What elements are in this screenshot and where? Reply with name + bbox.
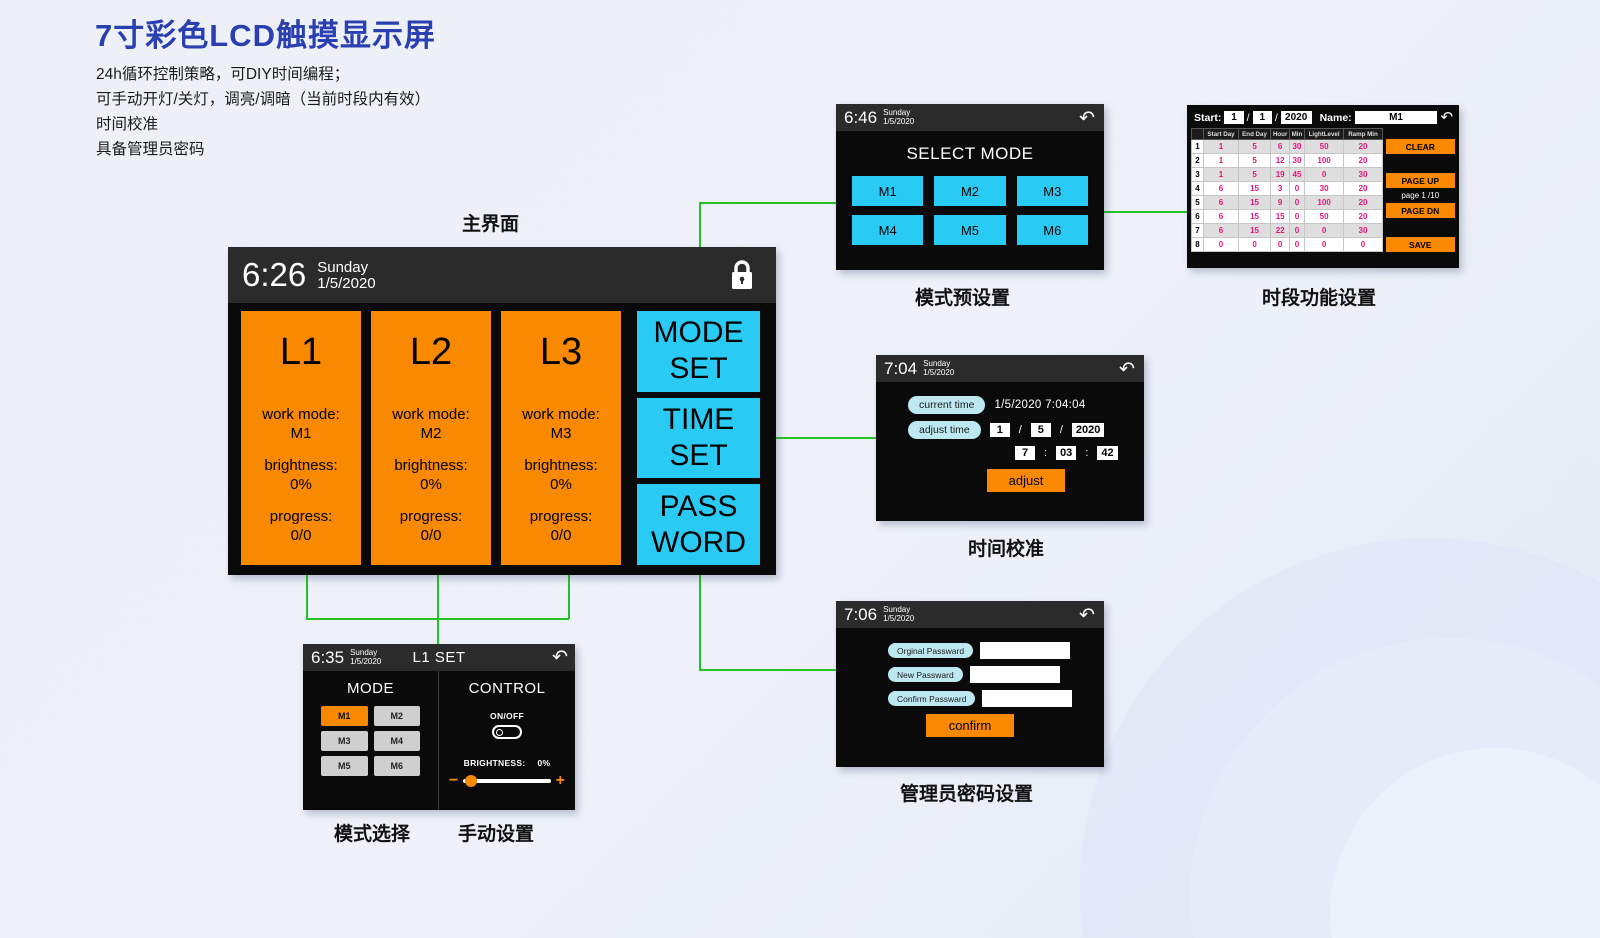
time-form: current time 1/5/2020 7:04:04 adjust tim… (876, 382, 1144, 492)
cell-hour[interactable]: 22 (1271, 224, 1290, 238)
mode-button-m2[interactable]: M2 (934, 176, 1005, 206)
connector-l3-down (568, 568, 570, 619)
page-indicator: page 1 /10 (1386, 190, 1455, 201)
date-separator-1: / (1247, 112, 1250, 124)
cell-lightlevel[interactable]: 50 (1304, 210, 1344, 224)
select-mode-title: SELECT MODE (836, 144, 1104, 164)
cell-hour[interactable]: 15 (1271, 210, 1290, 224)
caption-main-interface: 主界面 (462, 209, 519, 236)
adjust-time-label: adjust time (908, 421, 981, 439)
cell-rampmin[interactable]: 20 (1344, 196, 1382, 210)
cell-rampmin[interactable]: 20 (1344, 210, 1382, 224)
cell-lightlevel[interactable]: 0 (1304, 224, 1344, 238)
slider-handle[interactable] (465, 775, 477, 787)
start-label: Start: (1194, 112, 1221, 124)
col-end-day: End Day (1239, 129, 1271, 140)
cell-start-day[interactable]: 6 (1204, 224, 1239, 238)
mode-button-m5[interactable]: M5 (934, 215, 1005, 245)
cell-rampmin[interactable]: 20 (1344, 182, 1382, 196)
table-row: 7615220030 (1192, 224, 1383, 238)
channel-workmode-group: work mode: M2 (392, 405, 470, 443)
table-row: 56159010020 (1192, 196, 1383, 210)
time-sep-1: : (1044, 447, 1047, 459)
page-title: 7寸彩色LCD触摸显示屏 (95, 10, 436, 55)
time-date: 1/5/2020 (923, 369, 954, 378)
password-form: Orginal Passward New Passward Confirm Pa… (836, 628, 1104, 737)
caption-time-calibration: 时间校准 (968, 534, 1044, 561)
cell-lightlevel[interactable]: 100 (1304, 154, 1344, 168)
connector-l1-down (306, 568, 308, 619)
pass-clock-date: Sunday 1/5/2020 (883, 606, 914, 623)
name-input[interactable]: M1 (1355, 111, 1438, 124)
brightness-slider-row: − + (439, 768, 575, 789)
cell-rownum: 2 (1192, 154, 1204, 168)
cell-hour[interactable]: 0 (1271, 238, 1290, 252)
main-date: 1/5/2020 (317, 276, 375, 292)
cell-rownum: 1 (1192, 140, 1204, 154)
background-decoration-arc-1 (1080, 538, 1600, 938)
schedule-table-body: 1156305020 215123010020 3151945030 46153… (1192, 140, 1383, 252)
original-password-input[interactable] (980, 642, 1070, 659)
adjust-day-input[interactable]: 5 (1031, 423, 1051, 437)
lset-clock-date: Sunday 1/5/2020 (350, 649, 381, 666)
channel-brightness-group: brightness: 0% (262, 456, 340, 494)
cell-rownum: 8 (1192, 238, 1204, 252)
lset-mode-button-m1[interactable]: M1 (321, 706, 368, 726)
mode-set-button[interactable]: MODE SET (637, 311, 760, 392)
connector-l2-down (437, 568, 439, 646)
feature-item-2: 可手动开灯/关灯，调亮/调暗（当前时段内有效） (96, 87, 430, 112)
lset-mode-button-m3[interactable]: M3 (321, 731, 368, 751)
schedule-side-buttons: CLEAR PAGE UP page 1 /10 PAGE DN SAVE (1386, 128, 1455, 252)
channel-progress-group: progress: 0/0 (262, 507, 340, 545)
original-password-row: Orginal Passward (836, 642, 1104, 659)
time-clock-date: Sunday 1/5/2020 (923, 360, 954, 377)
mode-button-m6[interactable]: M6 (1017, 215, 1088, 245)
channel-card-l3[interactable]: L3 work mode: M3 brightness: 0% progress… (501, 311, 621, 565)
adjust-date-row: adjust time 1 / 5 / 2020 (908, 421, 1144, 439)
mode-titlebar: 6:46 Sunday 1/5/2020 ↶ (836, 104, 1104, 131)
main-clock-time: 6:26 (242, 256, 306, 294)
cell-min[interactable]: 0 (1290, 182, 1304, 196)
channel-name: L2 (410, 333, 452, 371)
connector-modeset-horizontal (699, 202, 836, 204)
workmode-value: M2 (392, 424, 470, 443)
toggle-knob-icon (496, 729, 503, 736)
table-row: 8000000 (1192, 238, 1383, 252)
progress-value: 0/0 (392, 526, 470, 545)
brightness-value: 0% (537, 758, 550, 768)
lset-body: MODE M1 M2 M3 M4 M5 M6 CONTROL ON/OFF BR… (303, 671, 575, 810)
main-weekday: Sunday (317, 260, 375, 276)
caption-schedule: 时段功能设置 (1262, 283, 1376, 310)
new-password-row: New Passward (836, 666, 1104, 683)
cell-min[interactable]: 0 (1290, 210, 1304, 224)
lset-date: 1/5/2020 (350, 658, 381, 667)
channel-card-l1[interactable]: L1 work mode: M1 brightness: 0% progress… (241, 311, 361, 565)
lset-mode-grid: M1 M2 M3 M4 M5 M6 (303, 697, 438, 776)
cell-rampmin[interactable]: 0 (1344, 238, 1382, 252)
cell-rampmin[interactable]: 20 (1344, 154, 1382, 168)
cell-lightlevel[interactable]: 100 (1304, 196, 1344, 210)
pass-titlebar: 7:06 Sunday 1/5/2020 ↶ (836, 601, 1104, 628)
brightness-label: BRIGHTNESS: (464, 758, 526, 768)
cell-end-day[interactable]: 15 (1239, 182, 1271, 196)
workmode-label: work mode: (262, 405, 340, 424)
channel-name: L1 (280, 333, 322, 371)
pass-clock-time: 7:06 (844, 605, 877, 625)
back-arrow-icon[interactable]: ↶ (552, 646, 568, 669)
time-calibration-panel: 7:04 Sunday 1/5/2020 ↶ current time 1/5/… (876, 355, 1144, 521)
cell-hour[interactable]: 9 (1271, 196, 1290, 210)
cell-start-day[interactable]: 6 (1204, 210, 1239, 224)
select-mode-grid: M1 M2 M3 M4 M5 M6 (836, 164, 1104, 245)
cell-start-day[interactable]: 6 (1204, 196, 1239, 210)
mode-set-line2: SET (669, 351, 727, 387)
cell-end-day[interactable]: 15 (1239, 196, 1271, 210)
back-arrow-icon[interactable]: ↶ (1079, 604, 1095, 627)
mode-set-line1: MODE (654, 315, 744, 351)
back-arrow-icon[interactable]: ↶ (1079, 107, 1095, 130)
time-set-line2: SET (669, 438, 727, 474)
connector-modepanel-to-schedule (1104, 211, 1188, 213)
time-set-button[interactable]: TIME SET (637, 398, 760, 479)
lset-mode-button-m6[interactable]: M6 (374, 756, 421, 776)
cell-hour[interactable]: 19 (1271, 168, 1290, 182)
table-row: 1156305020 (1192, 140, 1383, 154)
schedule-main: Start Day End Day Hour Min LightLevel Ra… (1191, 128, 1455, 252)
date-sep-2: / (1060, 424, 1063, 436)
mode-button-m1[interactable]: M1 (852, 176, 923, 206)
channel-stats: work mode: M2 brightness: 0% progress: 0… (392, 405, 470, 558)
adjust-hour-input[interactable]: 7 (1015, 446, 1035, 460)
progress-label: progress: (522, 507, 600, 526)
mode-clock-date: Sunday 1/5/2020 (883, 109, 914, 126)
brightness-label: brightness: (392, 456, 470, 475)
cell-min[interactable]: 0 (1290, 238, 1304, 252)
time-set-line1: TIME (663, 402, 735, 438)
cell-end-day[interactable]: 5 (1239, 154, 1271, 168)
brightness-value: 0% (262, 475, 340, 494)
schedule-settings-panel: Start: 1 / 1 / 2020 Name: M1 ↶ Start Day… (1187, 105, 1459, 268)
background-decoration-arc-3 (1330, 748, 1600, 938)
lset-titlebar: 6:35 Sunday 1/5/2020 L1 SET ↶ (303, 644, 575, 671)
password-line2: WORD (651, 525, 746, 561)
channel-card-l2[interactable]: L2 work mode: M2 brightness: 0% progress… (371, 311, 491, 565)
connector-channels-bus (306, 618, 569, 620)
col-min: Min (1290, 129, 1304, 140)
start-day-input[interactable]: 1 (1253, 111, 1272, 124)
main-body: L1 work mode: M1 brightness: 0% progress… (228, 303, 776, 575)
current-time-row: current time 1/5/2020 7:04:04 (908, 396, 1144, 414)
table-row: 3151945030 (1192, 168, 1383, 182)
spacer-2 (1386, 220, 1455, 235)
mode-date: 1/5/2020 (883, 118, 914, 127)
connector-main-to-timeset (759, 437, 876, 439)
feature-item-1: 24h循环控制策略，可DIY时间编程； (96, 62, 430, 87)
minus-icon[interactable]: − (449, 773, 458, 789)
save-button[interactable]: SAVE (1386, 237, 1455, 252)
original-password-label: Orginal Passward (888, 643, 973, 658)
adjust-button[interactable]: adjust (987, 469, 1065, 492)
cell-start-day[interactable]: 1 (1204, 154, 1239, 168)
schedule-table[interactable]: Start Day End Day Hour Min LightLevel Ra… (1191, 128, 1383, 252)
cell-end-day[interactable]: 15 (1239, 210, 1271, 224)
caption-manual-set: 手动设置 (458, 819, 534, 846)
main-titlebar: 6:26 Sunday 1/5/2020 (228, 247, 776, 303)
clear-button[interactable]: CLEAR (1386, 139, 1455, 154)
feature-item-3: 时间校准 (96, 112, 430, 137)
table-row: 66151505020 (1192, 210, 1383, 224)
col-rownum (1192, 129, 1204, 140)
admin-password-panel: 7:06 Sunday 1/5/2020 ↶ Orginal Passward … (836, 601, 1104, 767)
adjust-month-input[interactable]: 1 (990, 423, 1010, 437)
channel-brightness-group: brightness: 0% (522, 456, 600, 494)
brightness-slider[interactable] (463, 779, 550, 783)
cell-rownum: 3 (1192, 168, 1204, 182)
col-rampmin: Ramp Min (1344, 129, 1382, 140)
cell-hour[interactable]: 6 (1271, 140, 1290, 154)
lock-icon[interactable] (728, 258, 756, 291)
col-lightlevel: LightLevel (1304, 129, 1344, 140)
schedule-header-row: Start: 1 / 1 / 2020 Name: M1 ↶ (1191, 109, 1455, 128)
confirm-button[interactable]: confirm (926, 714, 1014, 737)
channel-stats: work mode: M3 brightness: 0% progress: 0… (522, 405, 600, 558)
confirm-password-label: Confirm Passward (888, 691, 975, 706)
current-time-label: current time (908, 396, 985, 414)
mode-section-header: MODE (303, 671, 438, 697)
workmode-value: M3 (522, 424, 600, 443)
password-line1: PASS (660, 489, 738, 525)
confirm-password-input[interactable] (982, 690, 1072, 707)
cell-lightlevel[interactable]: 0 (1304, 238, 1344, 252)
control-section-header: CONTROL (439, 671, 575, 697)
l1-set-panel: 6:35 Sunday 1/5/2020 L1 SET ↶ MODE M1 M2… (303, 644, 575, 810)
main-side-buttons: MODE SET TIME SET PASS WORD (637, 311, 760, 565)
plus-icon[interactable]: + (556, 773, 565, 789)
cell-min[interactable]: 0 (1290, 224, 1304, 238)
confirm-password-row: Confirm Passward (836, 690, 1104, 707)
channel-progress-group: progress: 0/0 (522, 507, 600, 545)
caption-mode-select: 模式选择 (334, 819, 410, 846)
channel-brightness-group: brightness: 0% (392, 456, 470, 494)
table-row: 4615303020 (1192, 182, 1383, 196)
lset-mode-button-m2[interactable]: M2 (374, 706, 421, 726)
cell-rownum: 7 (1192, 224, 1204, 238)
cell-start-day[interactable]: 1 (1204, 168, 1239, 182)
workmode-label: work mode: (392, 405, 470, 424)
date-separator-2: / (1275, 112, 1278, 124)
progress-value: 0/0 (522, 526, 600, 545)
start-year-input[interactable]: 2020 (1281, 111, 1312, 124)
workmode-label: work mode: (522, 405, 600, 424)
mode-button-m3[interactable]: M3 (1017, 176, 1088, 206)
lset-control-section: CONTROL ON/OFF BRIGHTNESS:0% − + (438, 671, 575, 810)
brightness-label: brightness: (262, 456, 340, 475)
cell-end-day[interactable]: 5 (1239, 168, 1271, 182)
select-mode-panel: 6:46 Sunday 1/5/2020 ↶ SELECT MODE M1 M2… (836, 104, 1104, 270)
cell-rampmin[interactable]: 20 (1344, 140, 1382, 154)
lset-mode-section: MODE M1 M2 M3 M4 M5 M6 (303, 671, 438, 810)
background-decoration-arc-2 (1190, 638, 1600, 938)
page-up-button[interactable]: PAGE UP (1386, 173, 1455, 188)
time-titlebar: 7:04 Sunday 1/5/2020 ↶ (876, 355, 1144, 382)
lset-mode-button-m5[interactable]: M5 (321, 756, 368, 776)
cell-min[interactable]: 30 (1290, 140, 1304, 154)
channel-workmode-group: work mode: M1 (262, 405, 340, 443)
start-month-input[interactable]: 1 (1224, 111, 1243, 124)
password-button[interactable]: PASS WORD (637, 484, 760, 565)
cell-start-day[interactable]: 6 (1204, 182, 1239, 196)
main-interface-panel: 6:26 Sunday 1/5/2020 L1 work mode: M1 (228, 247, 776, 575)
back-arrow-icon[interactable]: ↶ (1440, 110, 1453, 125)
lset-mode-button-m4[interactable]: M4 (374, 731, 421, 751)
lset-clock-time: 6:35 (311, 648, 344, 668)
feature-list: 24h循环控制策略，可DIY时间编程； 可手动开灯/关灯，调亮/调暗（当前时段内… (96, 62, 430, 162)
new-password-input[interactable] (970, 666, 1060, 683)
adjust-minute-input[interactable]: 03 (1056, 446, 1076, 460)
mode-clock-time: 6:46 (844, 108, 877, 128)
table-header-row: Start Day End Day Hour Min LightLevel Ra… (1192, 129, 1383, 140)
mode-button-m4[interactable]: M4 (852, 215, 923, 245)
cell-end-day[interactable]: 5 (1239, 140, 1271, 154)
channel-progress-group: progress: 0/0 (392, 507, 470, 545)
cell-start-day[interactable]: 1 (1204, 140, 1239, 154)
main-clock-date: Sunday 1/5/2020 (317, 260, 375, 292)
connector-password-horizontal (699, 669, 836, 671)
cell-rownum: 4 (1192, 182, 1204, 196)
adjust-second-input[interactable]: 42 (1097, 446, 1117, 460)
time-sep-2: : (1085, 447, 1088, 459)
channel-name: L3 (540, 333, 582, 371)
table-row: 215123010020 (1192, 154, 1383, 168)
cell-start-day[interactable]: 0 (1204, 238, 1239, 252)
page-down-button[interactable]: PAGE DN (1386, 203, 1455, 218)
onoff-label: ON/OFF (439, 711, 575, 721)
time-clock-time: 7:04 (884, 359, 917, 379)
current-time-value: 1/5/2020 7:04:04 (994, 399, 1085, 411)
cell-lightlevel[interactable]: 30 (1304, 182, 1344, 196)
col-hour: Hour (1271, 129, 1290, 140)
brightness-value: 0% (392, 475, 470, 494)
col-start-day: Start Day (1204, 129, 1239, 140)
progress-value: 0/0 (262, 526, 340, 545)
channel-workmode-group: work mode: M3 (522, 405, 600, 443)
cell-rampmin[interactable]: 30 (1344, 224, 1382, 238)
onoff-toggle[interactable] (492, 725, 522, 739)
brightness-value: 0% (522, 475, 600, 494)
cell-hour[interactable]: 3 (1271, 182, 1290, 196)
adjust-year-input[interactable]: 2020 (1072, 423, 1104, 437)
new-password-label: New Passward (888, 667, 963, 682)
cell-lightlevel[interactable]: 50 (1304, 140, 1344, 154)
date-sep-1: / (1019, 424, 1022, 436)
cell-end-day[interactable]: 15 (1239, 224, 1271, 238)
cell-hour[interactable]: 12 (1271, 154, 1290, 168)
name-label: Name: (1320, 112, 1352, 124)
cell-min[interactable]: 0 (1290, 196, 1304, 210)
feature-item-4: 具备管理员密码 (96, 137, 430, 162)
brightness-label: brightness: (522, 456, 600, 475)
adjust-clock-row: 7 : 03 : 42 (1015, 446, 1144, 460)
cell-rampmin[interactable]: 30 (1344, 168, 1382, 182)
back-arrow-icon[interactable]: ↶ (1119, 358, 1135, 381)
pass-date: 1/5/2020 (883, 615, 914, 624)
caption-mode-preset: 模式预设置 (915, 283, 1010, 310)
brightness-row-label: BRIGHTNESS:0% (439, 758, 575, 768)
cell-lightlevel[interactable]: 0 (1304, 168, 1344, 182)
channel-stats: work mode: M1 brightness: 0% progress: 0… (262, 405, 340, 558)
progress-label: progress: (392, 507, 470, 526)
progress-label: progress: (262, 507, 340, 526)
caption-admin-password: 管理员密码设置 (900, 779, 1033, 806)
cell-min[interactable]: 45 (1290, 168, 1304, 182)
cell-end-day[interactable]: 0 (1239, 238, 1271, 252)
cell-min[interactable]: 30 (1290, 154, 1304, 168)
cell-rownum: 6 (1192, 210, 1204, 224)
spacer-1 (1386, 156, 1455, 171)
workmode-value: M1 (262, 424, 340, 443)
cell-rownum: 5 (1192, 196, 1204, 210)
